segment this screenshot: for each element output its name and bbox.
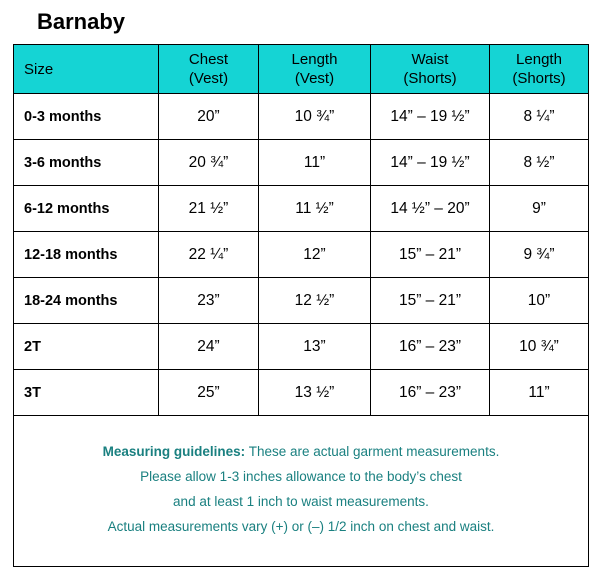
cell-waist-shorts: 16” – 23”: [371, 370, 490, 416]
cell-length-vest: 12”: [259, 232, 371, 278]
cell-length-vest: 11 ½”: [259, 186, 371, 232]
cell-size: 0-3 months: [14, 94, 159, 140]
cell-length-shorts: 10”: [490, 278, 589, 324]
cell-length-vest: 10 ¾”: [259, 94, 371, 140]
cell-length-shorts: 9 ¾”: [490, 232, 589, 278]
cell-chest-vest: 21 ½”: [159, 186, 259, 232]
column-header-length-shorts-line1: Length: [490, 50, 588, 69]
cell-size: 12-18 months: [14, 232, 159, 278]
table-row: 18-24 months 23” 12 ½” 15” – 21” 10”: [14, 278, 589, 324]
cell-waist-shorts: 15” – 21”: [371, 232, 490, 278]
cell-size: 18-24 months: [14, 278, 159, 324]
column-header-waist-shorts: Waist (Shorts): [371, 45, 490, 94]
table-row: 0-3 months 20” 10 ¾” 14” – 19 ½” 8 ¼”: [14, 94, 589, 140]
column-header-length-shorts: Length (Shorts): [490, 45, 589, 94]
measuring-guidelines-intro: These are actual garment measurements.: [245, 444, 499, 459]
cell-chest-vest: 20”: [159, 94, 259, 140]
cell-chest-vest: 20 ¾”: [159, 140, 259, 186]
cell-length-shorts: 8 ¼”: [490, 94, 589, 140]
header-row: Size Chest (Vest) Length (Vest) Waist (S…: [14, 45, 589, 94]
column-header-size-line1: Size: [24, 60, 158, 79]
size-chart-table-container: Size Chest (Vest) Length (Vest) Waist (S…: [13, 44, 588, 567]
table-row: 12-18 months 22 ¼” 12” 15” – 21” 9 ¾”: [14, 232, 589, 278]
table-header: Size Chest (Vest) Length (Vest) Waist (S…: [14, 45, 589, 94]
note-line-3: and at least 1 inch to waist measurement…: [22, 489, 580, 514]
cell-length-vest: 13”: [259, 324, 371, 370]
cell-waist-shorts: 15” – 21”: [371, 278, 490, 324]
cell-length-shorts: 8 ½”: [490, 140, 589, 186]
column-header-waist-shorts-line2: (Shorts): [371, 69, 489, 88]
cell-length-vest: 13 ½”: [259, 370, 371, 416]
page-title: Barnaby: [37, 7, 125, 37]
table-row: 2T 24” 13” 16” – 23” 10 ¾”: [14, 324, 589, 370]
column-header-length-shorts-line2: (Shorts): [490, 69, 588, 88]
cell-waist-shorts: 14” – 19 ½”: [371, 140, 490, 186]
note-line-1: Measuring guidelines: These are actual g…: [22, 439, 580, 464]
column-header-length-vest-line1: Length: [259, 50, 370, 69]
cell-length-shorts: 9”: [490, 186, 589, 232]
cell-size: 3-6 months: [14, 140, 159, 186]
cell-length-vest: 12 ½”: [259, 278, 371, 324]
cell-length-shorts: 11”: [490, 370, 589, 416]
note-line-2: Please allow 1-3 inches allowance to the…: [22, 464, 580, 489]
table-body: 0-3 months 20” 10 ¾” 14” – 19 ½” 8 ¼” 3-…: [14, 94, 589, 416]
cell-waist-shorts: 14 ½” – 20”: [371, 186, 490, 232]
cell-size: 3T: [14, 370, 159, 416]
column-header-chest-vest-line1: Chest: [159, 50, 258, 69]
column-header-length-vest: Length (Vest): [259, 45, 371, 94]
size-chart-page: Barnaby Size Chest (Vest): [0, 0, 600, 546]
measuring-guidelines: Measuring guidelines: These are actual g…: [14, 416, 589, 567]
cell-size: 2T: [14, 324, 159, 370]
note-line-4: Actual measurements vary (+) or (–) 1/2 …: [22, 514, 580, 539]
size-chart-table: Size Chest (Vest) Length (Vest) Waist (S…: [13, 44, 589, 567]
table-footer: Measuring guidelines: These are actual g…: [14, 416, 589, 567]
column-header-size: Size: [14, 45, 159, 94]
cell-chest-vest: 24”: [159, 324, 259, 370]
table-row: 6-12 months 21 ½” 11 ½” 14 ½” – 20” 9”: [14, 186, 589, 232]
cell-length-shorts: 10 ¾”: [490, 324, 589, 370]
cell-chest-vest: 25”: [159, 370, 259, 416]
column-header-chest-vest-line2: (Vest): [159, 69, 258, 88]
cell-chest-vest: 22 ¼”: [159, 232, 259, 278]
measuring-guidelines-row: Measuring guidelines: These are actual g…: [14, 416, 589, 567]
measuring-guidelines-label: Measuring guidelines:: [103, 444, 246, 459]
table-row: 3T 25” 13 ½” 16” – 23” 11”: [14, 370, 589, 416]
cell-size: 6-12 months: [14, 186, 159, 232]
column-header-length-vest-line2: (Vest): [259, 69, 370, 88]
cell-length-vest: 11”: [259, 140, 371, 186]
table-row: 3-6 months 20 ¾” 11” 14” – 19 ½” 8 ½”: [14, 140, 589, 186]
cell-waist-shorts: 14” – 19 ½”: [371, 94, 490, 140]
cell-waist-shorts: 16” – 23”: [371, 324, 490, 370]
cell-chest-vest: 23”: [159, 278, 259, 324]
column-header-waist-shorts-line1: Waist: [371, 50, 489, 69]
column-header-chest-vest: Chest (Vest): [159, 45, 259, 94]
